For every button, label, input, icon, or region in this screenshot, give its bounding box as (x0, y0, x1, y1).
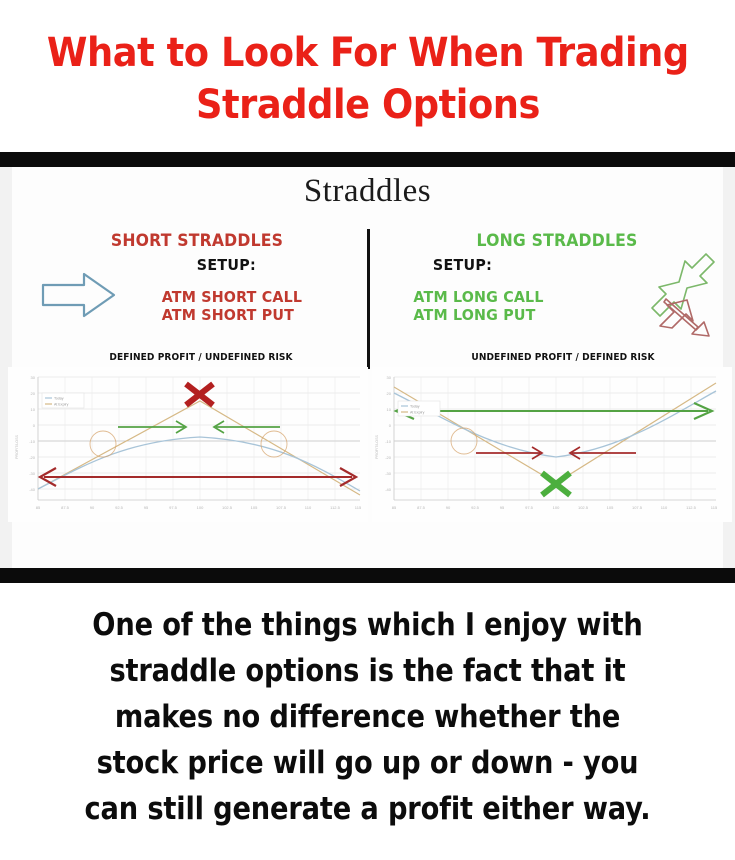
long-risk-caption: UNDEFINED PROFIT / DEFINED RISK (402, 352, 723, 363)
long-straddles-heading: LONG STRADDLES (391, 231, 724, 250)
divider-bar-top (0, 152, 735, 167)
svg-text:90: 90 (90, 505, 95, 510)
quote-text: One of the things which I enjoy with str… (81, 602, 654, 832)
svg-text:107.5: 107.5 (632, 505, 643, 510)
page-title-line-2: Straddle Options (195, 79, 539, 131)
svg-text:102.5: 102.5 (222, 505, 233, 510)
svg-text:Today: Today (410, 405, 420, 409)
svg-text:110: 110 (661, 505, 668, 510)
card-heading: Straddles (0, 173, 735, 210)
svg-text:105: 105 (251, 505, 258, 510)
svg-text:87.5: 87.5 (417, 505, 426, 510)
short-setup-label: SETUP: (197, 256, 303, 274)
svg-text:20: 20 (387, 391, 392, 396)
right-arrow-icon (40, 270, 118, 325)
svg-text:At Expiry: At Expiry (54, 403, 69, 407)
short-straddles-setup-text: SETUP: ATM SHORT CALL ATM SHORT PUT (158, 256, 306, 324)
short-setup-line-1: ATM SHORT CALL (162, 288, 302, 306)
long-setup-label: SETUP: (433, 256, 544, 274)
svg-text:95: 95 (500, 505, 505, 510)
svg-text:85: 85 (392, 505, 397, 510)
long-straddles-setup-text: SETUP: ATM LONG CALL ATM LONG PUT (410, 256, 547, 324)
svg-text:-20: -20 (29, 455, 36, 460)
svg-text:-30: -30 (385, 471, 392, 476)
svg-text:10: 10 (387, 407, 392, 412)
svg-text:85: 85 (36, 505, 41, 510)
short-risk-caption: DEFINED PROFIT / UNDEFINED RISK (42, 352, 359, 363)
svg-text:102.5: 102.5 (578, 505, 589, 510)
svg-text:95: 95 (144, 505, 149, 510)
svg-text:107.5: 107.5 (276, 505, 287, 510)
long-setup-lines: ATM LONG CALL ATM LONG PUT (413, 288, 543, 324)
svg-text:115: 115 (711, 505, 718, 510)
title-block: What to Look For When Trading Straddle O… (0, 0, 735, 152)
svg-text:105: 105 (607, 505, 614, 510)
long-setup-line-2: ATM LONG PUT (413, 306, 543, 324)
short-straddles-heading: SHORT STRADDLES (35, 231, 360, 250)
svg-text:90: 90 (446, 505, 451, 510)
svg-text:10: 10 (31, 407, 36, 412)
svg-text:-30: -30 (29, 471, 36, 476)
divider-bar-bottom (0, 568, 735, 583)
svg-text:-20: -20 (385, 455, 392, 460)
short-setup-line-2: ATM SHORT PUT (162, 306, 302, 324)
short-straddle-payoff-chart: 3020 100 -10-20 -30-40 PROFIT/LOSS 85 87… (8, 367, 368, 522)
svg-text:30: 30 (31, 375, 36, 380)
svg-text:20: 20 (31, 391, 36, 396)
svg-text:PROFIT/LOSS: PROFIT/LOSS (375, 435, 379, 459)
svg-text:100: 100 (553, 505, 560, 510)
straddles-card: Straddles SHORT STRADDLES SETUP: ATM SHO… (0, 167, 735, 568)
svg-text:Today: Today (54, 397, 64, 401)
svg-text:110: 110 (305, 505, 312, 510)
svg-text:PROFIT/LOSS: PROFIT/LOSS (15, 435, 19, 459)
svg-text:97.5: 97.5 (525, 505, 534, 510)
quote-block: One of the things which I enjoy with str… (0, 583, 735, 860)
short-setup-lines: ATM SHORT CALL ATM SHORT PUT (162, 288, 302, 324)
svg-text:-40: -40 (29, 487, 36, 492)
svg-text:97.5: 97.5 (169, 505, 178, 510)
svg-text:87.5: 87.5 (61, 505, 70, 510)
short-straddles-panel: SHORT STRADDLES SETUP: ATM SHORT CALL AT… (8, 219, 368, 564)
svg-text:-10: -10 (29, 439, 36, 444)
svg-text:112.5: 112.5 (686, 505, 696, 510)
long-setup-line-1: ATM LONG CALL (413, 288, 543, 306)
svg-text:At Expiry: At Expiry (410, 411, 425, 415)
svg-text:100: 100 (197, 505, 204, 510)
svg-text:-40: -40 (385, 487, 392, 492)
long-straddles-setup-row: SETUP: ATM LONG CALL ATM LONG PUT (372, 250, 732, 350)
svg-text:92.5: 92.5 (115, 505, 124, 510)
svg-text:115: 115 (355, 505, 362, 510)
svg-text:92.5: 92.5 (471, 505, 480, 510)
short-straddles-setup-row: SETUP: ATM SHORT CALL ATM SHORT PUT (8, 250, 368, 350)
two-way-diagonal-arrow-icon (646, 252, 718, 343)
svg-text:-10: -10 (385, 439, 392, 444)
svg-text:30: 30 (387, 375, 392, 380)
long-straddles-panel: LONG STRADDLES SETUP: ATM LONG CALL ATM … (372, 219, 732, 564)
svg-text:112.5: 112.5 (330, 505, 340, 510)
long-straddle-payoff-chart: 3020 100 -10-20 -30-40 PROFIT/LOSS 85 87… (372, 367, 732, 522)
page-title-line-1: What to Look For When Trading (47, 27, 689, 79)
